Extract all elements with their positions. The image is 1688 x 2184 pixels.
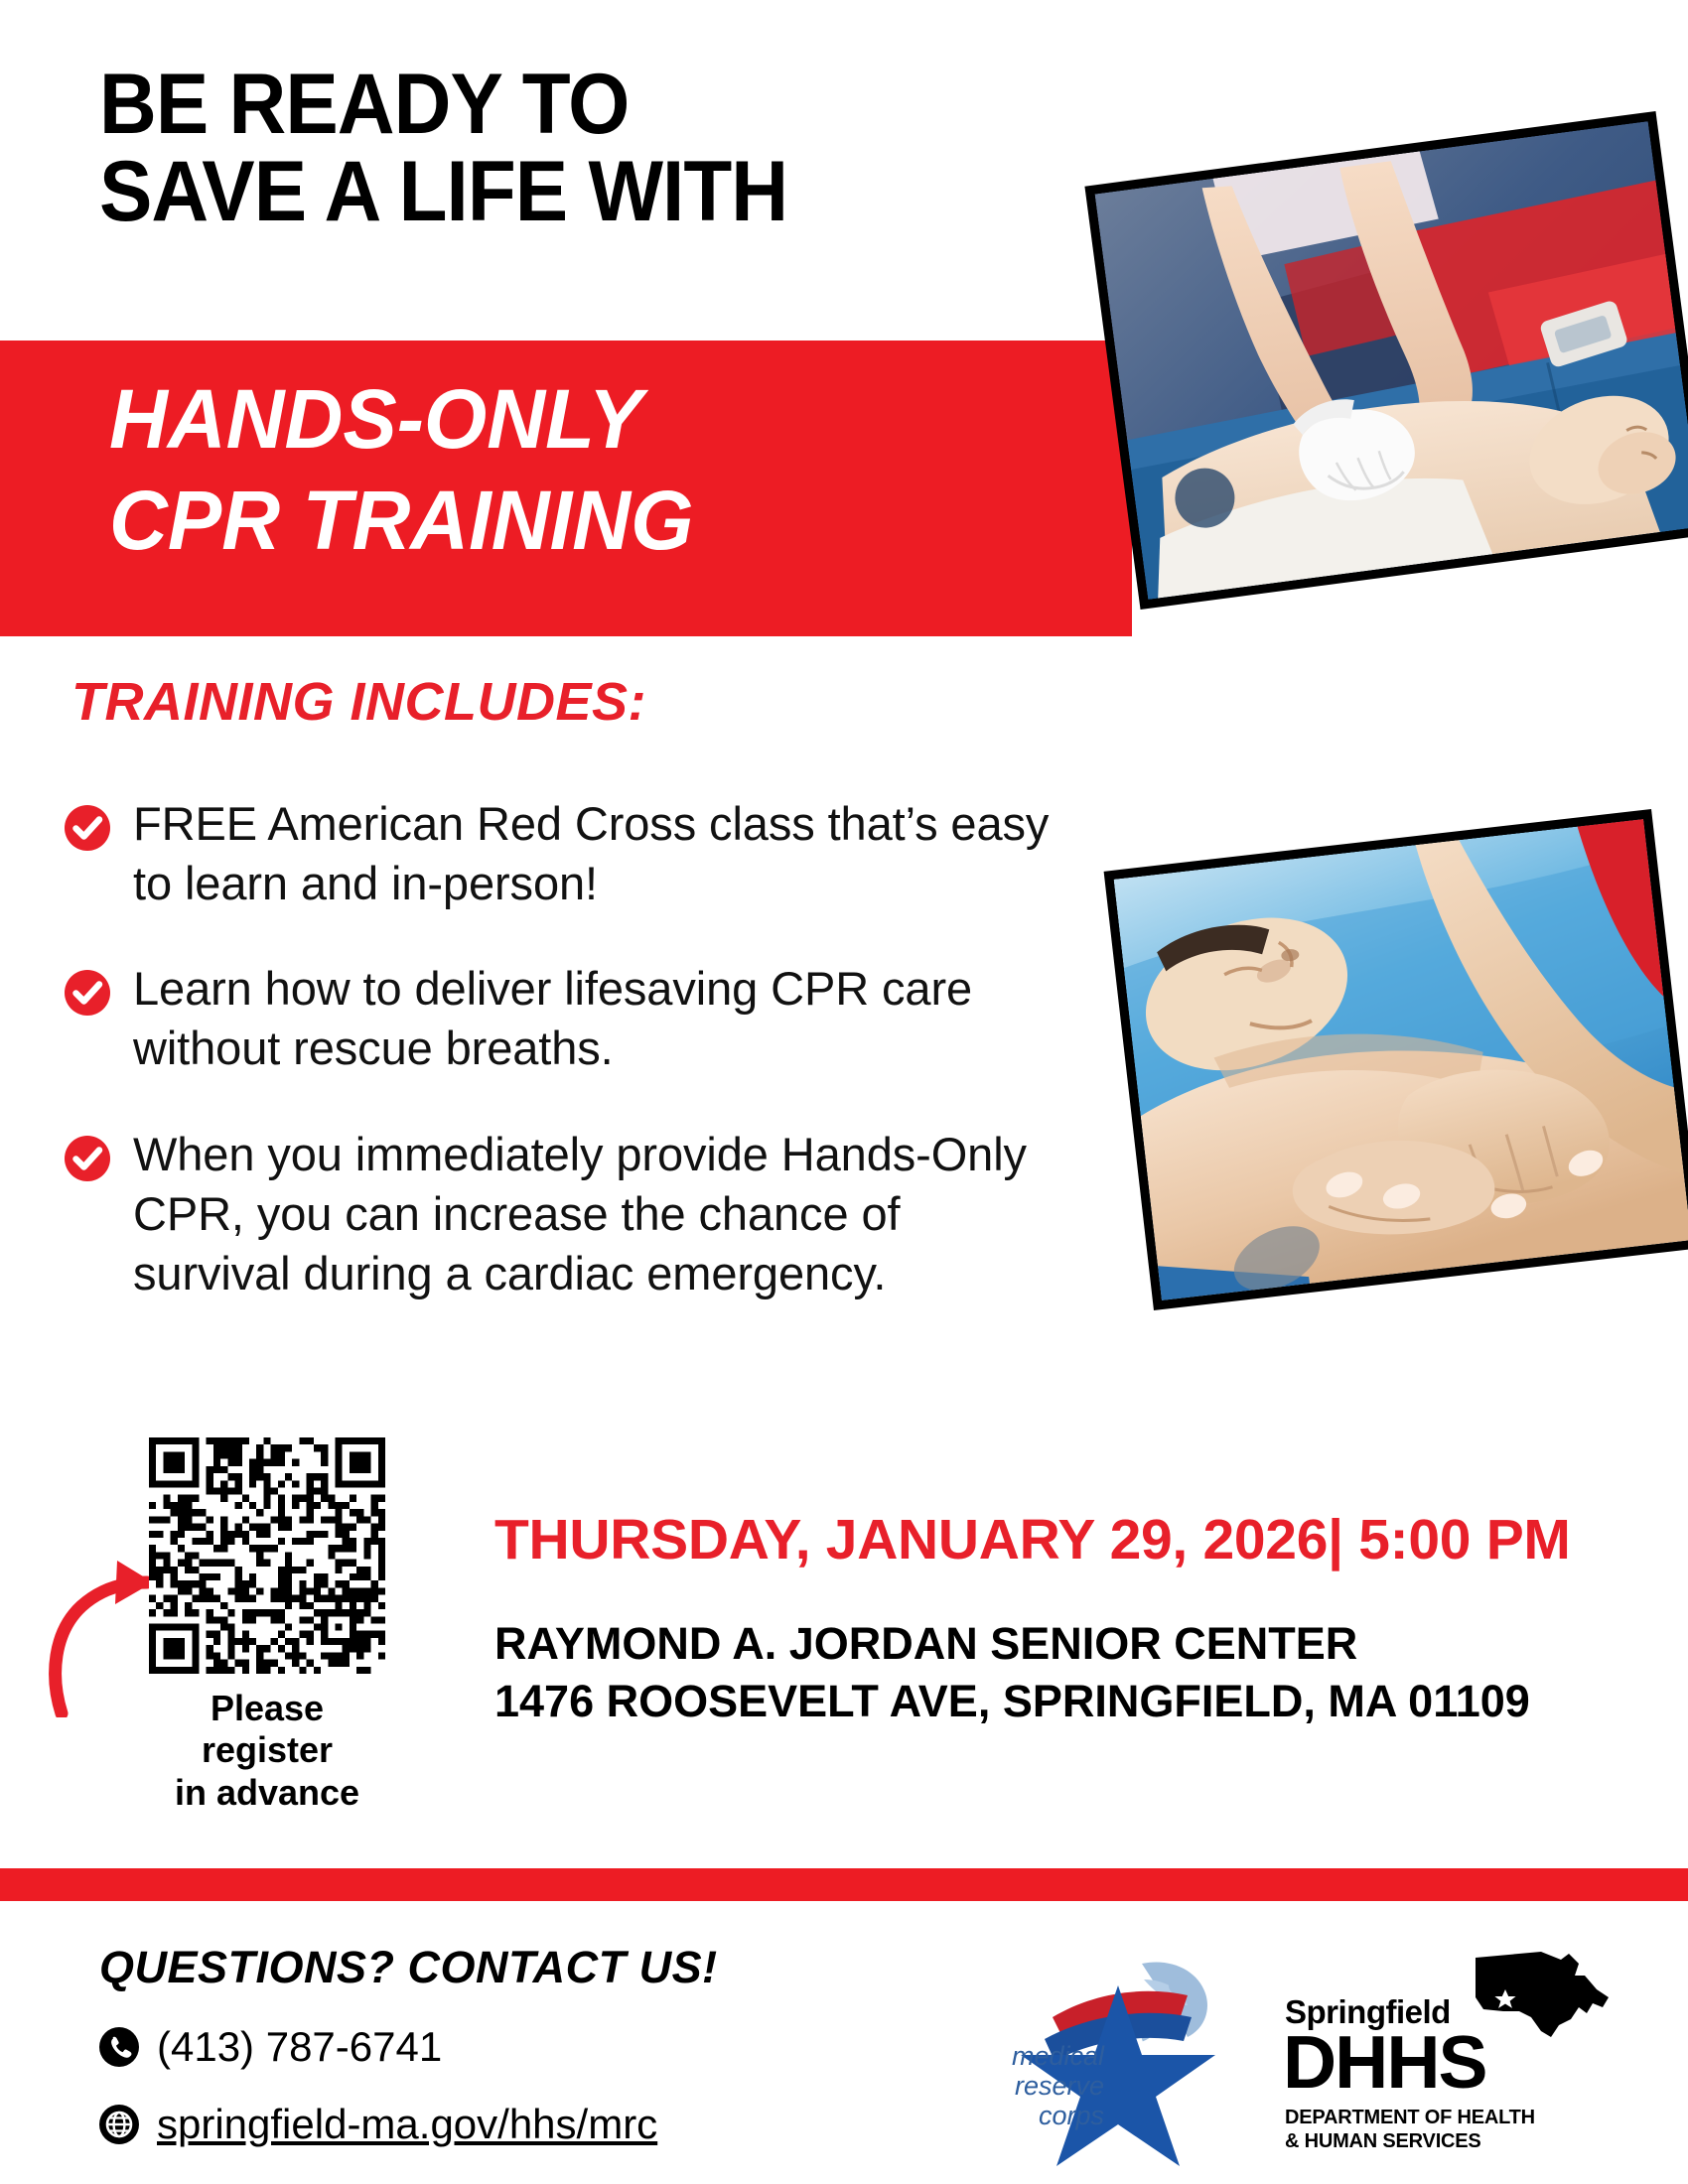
qr-code-icon[interactable] (149, 1437, 385, 1674)
springfield-dhhs-logo: Springfield DHHS DEPARTMENT OF HEALTH & … (1281, 1946, 1614, 2159)
photo-image-bottom (1114, 819, 1688, 1300)
list-item: FREE American Red Cross class that’s eas… (64, 794, 1066, 913)
banner-title-line-1: HANDS-ONLY (109, 368, 976, 470)
training-bullet-list: FREE American Red Cross class that’s eas… (64, 794, 1066, 1349)
bullet-text: FREE American Red Cross class that’s eas… (133, 794, 1066, 913)
bullet-text: Learn how to deliver lifesaving CPR care… (133, 959, 1066, 1078)
event-details: THURSDAY, JANUARY 29, 2026| 5:00 PM RAYM… (494, 1509, 1666, 1731)
mrc-line-1: medical (995, 2041, 1104, 2071)
medical-reserve-corps-logo: medical reserve corps (993, 1946, 1256, 2169)
banner-title-line-2: CPR TRAINING (109, 470, 976, 571)
event-address: 1476 ROOSEVELT AVE, SPRINGFIELD, MA 0110… (494, 1673, 1666, 1731)
photo-image-top (1095, 121, 1688, 600)
list-item: When you immediately provide Hands-Only … (64, 1125, 1066, 1303)
bullet-text: When you immediately provide Hands-Only … (133, 1125, 1066, 1303)
headline-line-1: BE READY TO (99, 62, 1023, 149)
banner-text-group: HANDS-ONLY CPR TRAINING (109, 368, 1003, 572)
list-item: Learn how to deliver lifesaving CPR care… (64, 959, 1066, 1078)
dhhs-subtitle: DEPARTMENT OF HEALTH & HUMAN SERVICES (1285, 2107, 1535, 2153)
contact-phone-row[interactable]: (413) 787-6741 (99, 2023, 894, 2071)
footer-contact-block: QUESTIONS? CONTACT US! (413) 787-6741 sp… (99, 1942, 894, 2148)
curved-arrow-icon (48, 1559, 162, 1717)
qr-caption-line-1: Please register (149, 1688, 385, 1772)
dhhs-acronym: DHHS (1283, 2025, 1486, 2100)
check-circle-icon (64, 804, 111, 852)
qr-caption: Please register in advance (149, 1688, 385, 1814)
headline-line-2: SAVE A LIFE WITH (99, 149, 1023, 236)
check-circle-icon (64, 969, 111, 1017)
event-date-time: THURSDAY, JANUARY 29, 2026| 5:00 PM (494, 1509, 1666, 1571)
mrc-line-3: corps (995, 2101, 1104, 2130)
training-includes-heading: TRAINING INCLUDES: (71, 671, 646, 733)
questions-heading: QUESTIONS? CONTACT US! (99, 1942, 894, 1993)
website-url[interactable]: springfield-ma.gov/hhs/mrc (157, 2101, 657, 2148)
dhhs-subtitle-line-1: DEPARTMENT OF HEALTH (1285, 2107, 1535, 2130)
cpr-manikin-chest-compression-photo (1084, 111, 1688, 610)
dhhs-subtitle-line-2: & HUMAN SERVICES (1285, 2130, 1535, 2154)
contact-website-row[interactable]: springfield-ma.gov/hhs/mrc (99, 2101, 894, 2148)
phone-icon (99, 2027, 139, 2067)
hands-only-cpr-banner: HANDS-ONLY CPR TRAINING (0, 341, 1132, 636)
mrc-line-2: reserve (995, 2071, 1104, 2101)
qr-caption-line-2: in advance (149, 1772, 385, 1814)
event-venue: RAYMOND A. JORDAN SENIOR CENTER (494, 1615, 1666, 1674)
phone-number[interactable]: (413) 787-6741 (157, 2023, 442, 2071)
mrc-wordmark: medical reserve corps (995, 2041, 1104, 2131)
page-title: BE READY TO SAVE A LIFE WITH (99, 62, 1092, 235)
check-circle-icon (64, 1135, 111, 1182)
hands-only-cpr-closeup-photo (1104, 809, 1688, 1310)
footer-divider (0, 1868, 1688, 1901)
globe-icon (99, 2105, 139, 2144)
registration-qr-block[interactable]: Please register in advance (149, 1437, 385, 1814)
